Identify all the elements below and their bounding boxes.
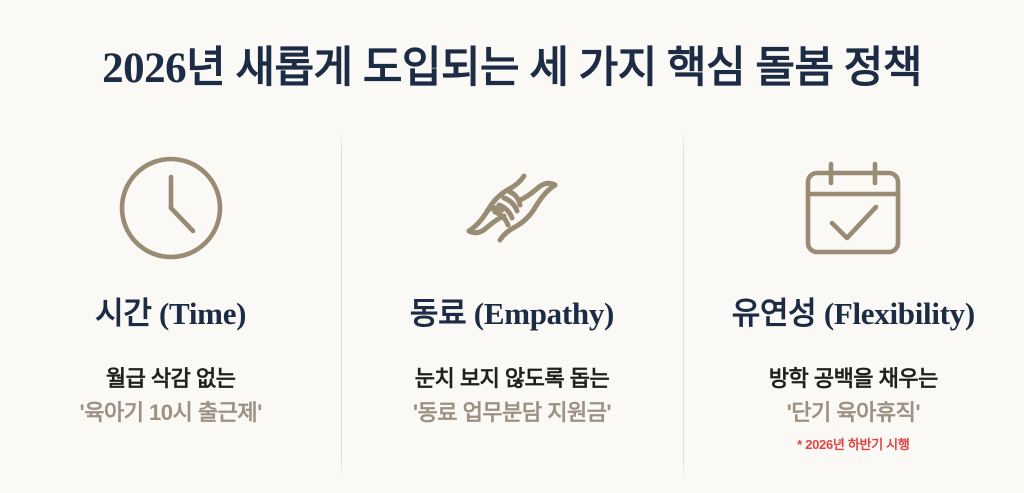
card-desc-quote: '육아기 10시 출근제'	[0, 397, 341, 429]
calendar-check-icon-slot	[683, 120, 1024, 295]
card-desc-quote: '단기 육아휴직'	[683, 397, 1024, 429]
helping-hands-icon-slot	[341, 120, 682, 295]
page-title: 2026년 새롭게 도입되는 세 가지 핵심 돌봄 정책	[102, 41, 922, 97]
card-heading: 유연성 (Flexibility)	[683, 295, 1024, 333]
policy-card-time: 시간 (Time) 월급 삭감 없는 '육아기 10시 출근제'	[0, 120, 341, 493]
helping-hands-icon	[452, 148, 572, 268]
calendar-check-icon	[797, 152, 909, 264]
card-desc-main: 월급 삭감 없는	[0, 363, 341, 395]
card-description: 월급 삭감 없는 '육아기 10시 출근제'	[0, 363, 341, 429]
card-desc-quote: '동료 업무분담 지원금'	[341, 397, 682, 429]
card-heading: 시간 (Time)	[0, 295, 341, 333]
card-desc-main: 방학 공백을 채우는	[683, 363, 1024, 395]
clock-icon	[115, 152, 227, 264]
policy-card-empathy: 동료 (Empathy) 눈치 보지 않도록 돕는 '동료 업무분담 지원금'	[341, 120, 682, 493]
card-heading: 동료 (Empathy)	[341, 295, 682, 333]
card-desc-main: 눈치 보지 않도록 돕는	[341, 363, 682, 395]
infographic-root: 2026년 새롭게 도입되는 세 가지 핵심 돌봄 정책 시간 (Time) 월…	[0, 0, 1024, 493]
page-title-container: 2026년 새롭게 도입되는 세 가지 핵심 돌봄 정책	[0, 12, 1024, 126]
policy-card-flexibility: 유연성 (Flexibility) 방학 공백을 채우는 '단기 육아휴직' *…	[683, 120, 1024, 493]
policy-card-row: 시간 (Time) 월급 삭감 없는 '육아기 10시 출근제'	[0, 120, 1024, 493]
card-description: 방학 공백을 채우는 '단기 육아휴직' * 2026년 하반기 시행	[683, 363, 1024, 454]
card-description: 눈치 보지 않도록 돕는 '동료 업무분담 지원금'	[341, 363, 682, 429]
clock-icon-slot	[0, 120, 341, 295]
card-footnote: * 2026년 하반기 시행	[683, 436, 1024, 454]
